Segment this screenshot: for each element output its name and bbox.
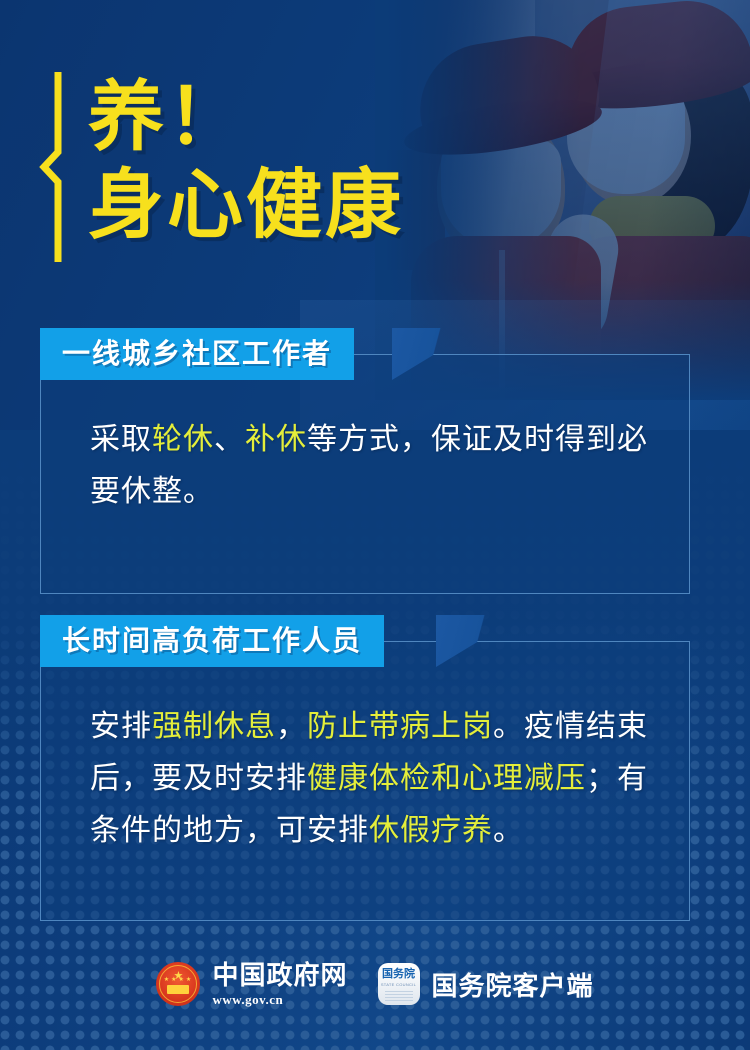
section-frontline-community-workers: 一线城乡社区工作者 采取轮休、补休等方式，保证及时得到必要休整。 (40, 328, 690, 548)
section-body-text: 安排强制休息，防止带病上岗。疫情结束后，要及时安排健康体检和心理减压；有条件的地… (40, 667, 690, 887)
state-council-app-brand[interactable]: 国务院 STATE COUNCIL 国务院客户端 (378, 963, 594, 1005)
body-part-highlight: 休假疗养 (369, 814, 493, 847)
app-icon-label: 国务院 (382, 969, 415, 980)
body-part: 、 (214, 423, 245, 456)
section-banner-label: 长时间高负荷工作人员 (40, 615, 384, 667)
national-emblem-icon: ★ ★★★★ (156, 962, 200, 1006)
poster-title: 养！ 身心健康 (38, 72, 404, 262)
bracket-icon (38, 72, 66, 262)
title-line-1: 养！ (88, 74, 404, 162)
state-council-app-icon: 国务院 STATE COUNCIL (378, 963, 420, 1005)
emblem-stars-small-icon: ★★★★ (164, 977, 194, 983)
body-part-highlight: 防止带病上岗 (307, 710, 493, 743)
title-lines: 养！ 身心健康 (88, 72, 404, 250)
body-part: 。 (493, 814, 524, 847)
body-part-highlight: 强制休息 (152, 710, 276, 743)
gov-website-brand[interactable]: ★ ★★★★ 中国政府网 www.gov.cn (156, 962, 347, 1006)
section-banner-label: 一线城乡社区工作者 (40, 328, 354, 380)
section-body-text: 采取轮休、补休等方式，保证及时得到必要休整。 (40, 380, 690, 548)
app-icon-lines-decor (385, 991, 413, 1003)
body-part-highlight: 健康体检和心理减压 (307, 762, 586, 795)
poster-root: 养！ 身心健康 一线城乡社区工作者 采取轮休、补休等方式，保证及时得到必要休整。… (0, 0, 750, 1050)
footer-branding: ★ ★★★★ 中国政府网 www.gov.cn 国务院 STATE COUNCI… (0, 962, 750, 1006)
body-part-highlight: 轮休 (152, 423, 214, 456)
body-part: 采取 (90, 423, 152, 456)
app-icon-sublabel: STATE COUNCIL (381, 982, 416, 988)
body-part: 安排 (90, 710, 152, 743)
body-part: ， (276, 710, 307, 743)
body-part-highlight: 补休 (245, 423, 307, 456)
state-council-app-name: 国务院客户端 (432, 966, 594, 1003)
gov-brand-url: www.gov.cn (212, 993, 347, 1006)
emblem-gate-icon (167, 985, 189, 994)
gov-brand-text: 中国政府网 www.gov.cn (212, 962, 347, 1006)
title-line-2: 身心健康 (88, 162, 404, 250)
section-high-intensity-workers: 长时间高负荷工作人员 安排强制休息，防止带病上岗。疫情结束后，要及时安排健康体检… (40, 615, 690, 887)
gov-brand-name: 中国政府网 (212, 962, 347, 988)
